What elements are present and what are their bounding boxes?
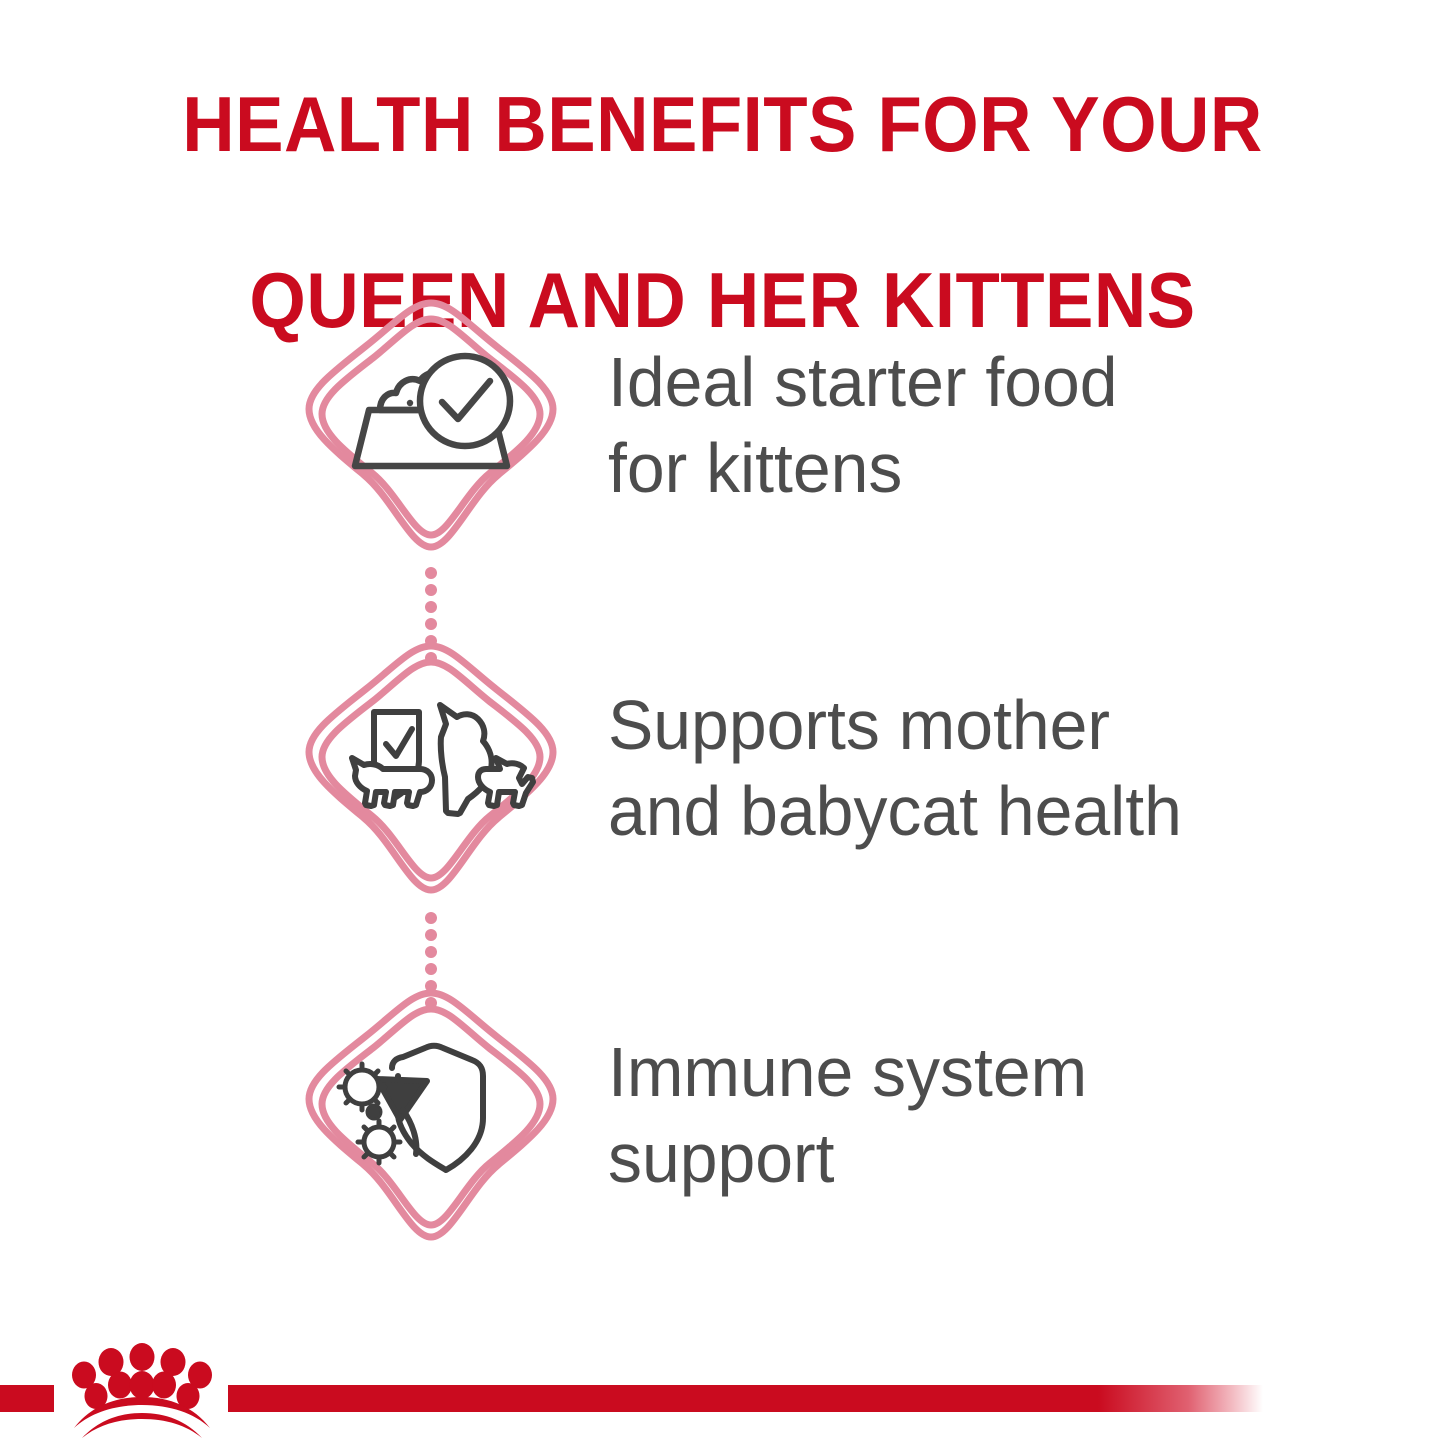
- food-bowl-check-icon: [300, 294, 562, 556]
- benefit-item: Ideal starter food for kittens: [300, 295, 1400, 555]
- connector-dot: [425, 946, 437, 958]
- royal-canin-crown-logo: [58, 1333, 226, 1438]
- benefit-item: Supports mother and babycat health: [300, 638, 1400, 898]
- benefit-label: Ideal starter food for kittens: [608, 339, 1376, 511]
- shield-germs-immune-icon: [300, 984, 562, 1246]
- shield-cat-kittens-icon: [300, 637, 562, 899]
- benefit-label: Supports mother and babycat health: [608, 682, 1376, 854]
- connector-dot: [425, 601, 437, 613]
- health-benefits-panel: HEALTH BENEFITS FOR YOUR QUEEN AND HER K…: [0, 0, 1445, 1438]
- page-title-line-1: HEALTH BENEFITS FOR YOUR: [51, 80, 1395, 168]
- connector-dot: [425, 584, 437, 596]
- benefit-item: Immune system support: [300, 985, 1400, 1245]
- benefit-label: Immune system support: [608, 1029, 1376, 1201]
- connector-dot: [425, 963, 437, 975]
- connector-dot: [425, 618, 437, 630]
- footer-bar-right: [228, 1385, 1445, 1412]
- connector-dot: [425, 929, 437, 941]
- connector-dot: [425, 912, 437, 924]
- footer-bar-left: [0, 1385, 54, 1412]
- connector-dot: [425, 567, 437, 579]
